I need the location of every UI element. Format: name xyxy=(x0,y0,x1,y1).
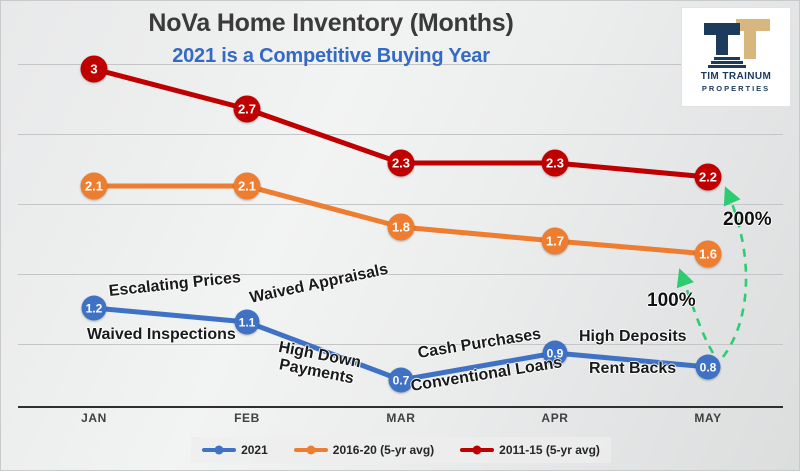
data-point-2016-20-mar[interactable]: 1.8 xyxy=(388,214,415,241)
annotation-high-deposits: High Deposits xyxy=(579,328,687,346)
gridline-2.0 xyxy=(18,204,783,205)
tt-monogram-icon xyxy=(700,13,772,69)
chart-container: NoVa Home Inventory (Months) 2021 is a C… xyxy=(0,0,800,471)
data-point-2016-20-apr[interactable]: 1.7 xyxy=(542,228,569,255)
data-point-2011-15-jan[interactable]: 3 xyxy=(81,56,108,83)
legend-swatch-2021 xyxy=(202,448,236,452)
data-point-2011-15-may[interactable]: 2.2 xyxy=(695,164,722,191)
legend-label-2016-20: 2016-20 (5-yr avg) xyxy=(333,443,434,457)
x-axis-label-may: MAY xyxy=(694,411,721,425)
x-axis-label-apr: APR xyxy=(541,411,568,425)
legend-swatch-2011-15 xyxy=(460,448,494,452)
data-point-2021-may[interactable]: 0.8 xyxy=(696,355,721,380)
x-axis-label-jan: JAN xyxy=(81,411,107,425)
chart-legend: 2021 2016-20 (5-yr avg) 2011-15 (5-yr av… xyxy=(191,437,611,463)
gridline-2.5 xyxy=(18,134,783,135)
growth-callout-200: 200% xyxy=(723,209,772,231)
data-point-2016-20-jan[interactable]: 2.1 xyxy=(81,173,108,200)
legend-label-2021: 2021 xyxy=(241,443,268,457)
data-point-2021-feb[interactable]: 1.1 xyxy=(235,310,260,335)
data-point-2021-jan[interactable]: 1.2 xyxy=(82,296,107,321)
legend-item-2016-20[interactable]: 2016-20 (5-yr avg) xyxy=(294,443,434,457)
data-point-2011-15-feb[interactable]: 2.7 xyxy=(234,96,261,123)
data-point-2016-20-may[interactable]: 1.6 xyxy=(695,241,722,268)
company-logo: TIM TRAINUM PROPERTIES xyxy=(681,7,791,107)
x-axis-label-feb: FEB xyxy=(234,411,260,425)
logo-company-sub: PROPERTIES xyxy=(702,84,770,93)
growth-callout-100: 100% xyxy=(647,290,696,312)
annotation-rent-backs: Rent Backs xyxy=(589,360,676,378)
data-point-2011-15-apr[interactable]: 2.3 xyxy=(542,150,569,177)
annotation-waived-inspections: Waived Inspections xyxy=(87,326,236,344)
data-point-2011-15-mar[interactable]: 2.3 xyxy=(388,150,415,177)
chart-title: NoVa Home Inventory (Months) xyxy=(1,9,661,38)
legend-label-2011-15: 2011-15 (5-yr avg) xyxy=(499,443,600,457)
x-axis-label-mar: MAR xyxy=(386,411,415,425)
legend-item-2011-15[interactable]: 2011-15 (5-yr avg) xyxy=(460,443,600,457)
data-point-2016-20-feb[interactable]: 2.1 xyxy=(234,173,261,200)
x-axis-line xyxy=(18,406,783,408)
legend-swatch-2016-20 xyxy=(294,448,328,452)
gridline-1.5 xyxy=(18,274,783,275)
logo-company-name: TIM TRAINUM xyxy=(701,71,772,82)
legend-item-2021[interactable]: 2021 xyxy=(202,443,268,457)
